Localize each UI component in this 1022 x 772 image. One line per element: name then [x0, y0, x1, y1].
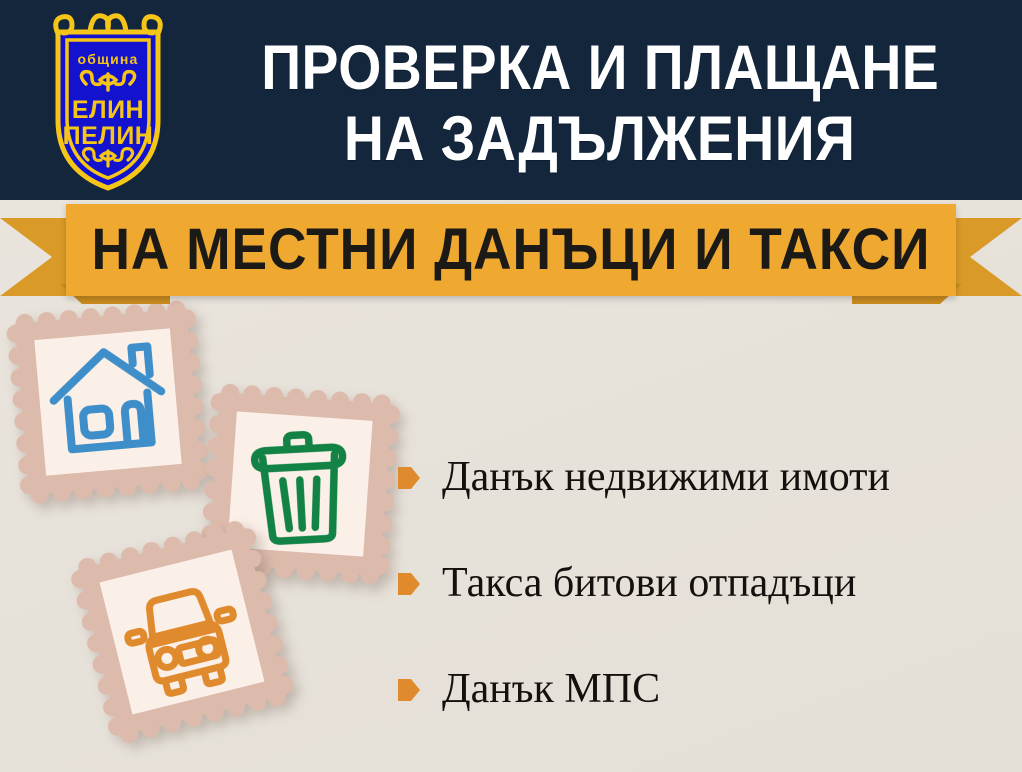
ribbon-banner: НА МЕСТНИ ДАНЪЦИ И ТАКСИ	[0, 196, 1022, 308]
coat-of-arms-icon: община ЕЛИН ПЕЛИН	[38, 8, 178, 194]
list-item[interactable]: Такса битови отпадъци	[398, 530, 1013, 636]
ribbon-subtitle: НА МЕСТНИ ДАНЪЦИ И ТАКСИ	[92, 221, 931, 279]
arrow-bullet-icon	[398, 677, 420, 703]
arrow-bullet-icon	[398, 571, 420, 597]
page-title-line-2: НА ЗАДЪЛЖЕНИЯ	[344, 104, 855, 175]
tax-type-list: Данък недвижими имоти Такса битови отпад…	[398, 424, 1013, 742]
municipality-logo: община ЕЛИН ПЕЛИН	[38, 8, 178, 194]
page-title-line-1: ПРОВЕРКА И ПЛАЩАНЕ	[261, 33, 939, 104]
poster-canvas: община ЕЛИН ПЕЛИН ПРОВЕРКА И ПЛАЩАНЕ НА …	[0, 0, 1022, 772]
logo-name-line2: ПЕЛИН	[63, 122, 154, 150]
page-title: ПРОВЕРКА И ПЛАЩАНЕ НА ЗАДЪЛЖЕНИЯ	[190, 14, 1010, 194]
arrow-bullet-icon	[398, 465, 420, 491]
stamp-card-house	[4, 298, 212, 506]
list-item[interactable]: Данък недвижими имоти	[398, 424, 1013, 530]
ribbon-main-panel: НА МЕСТНИ ДАНЪЦИ И ТАКСИ	[66, 204, 956, 296]
list-item-label: Данък недвижими имоти	[442, 455, 890, 499]
list-item[interactable]: Данък МПС	[398, 636, 1013, 742]
list-item-label: Данък МПС	[442, 667, 660, 711]
list-item-label: Такса битови отпадъци	[442, 561, 856, 605]
stamp-card-group	[0, 300, 420, 770]
logo-name-line1: ЕЛИН	[72, 96, 144, 124]
logo-small-text: община	[77, 51, 138, 67]
